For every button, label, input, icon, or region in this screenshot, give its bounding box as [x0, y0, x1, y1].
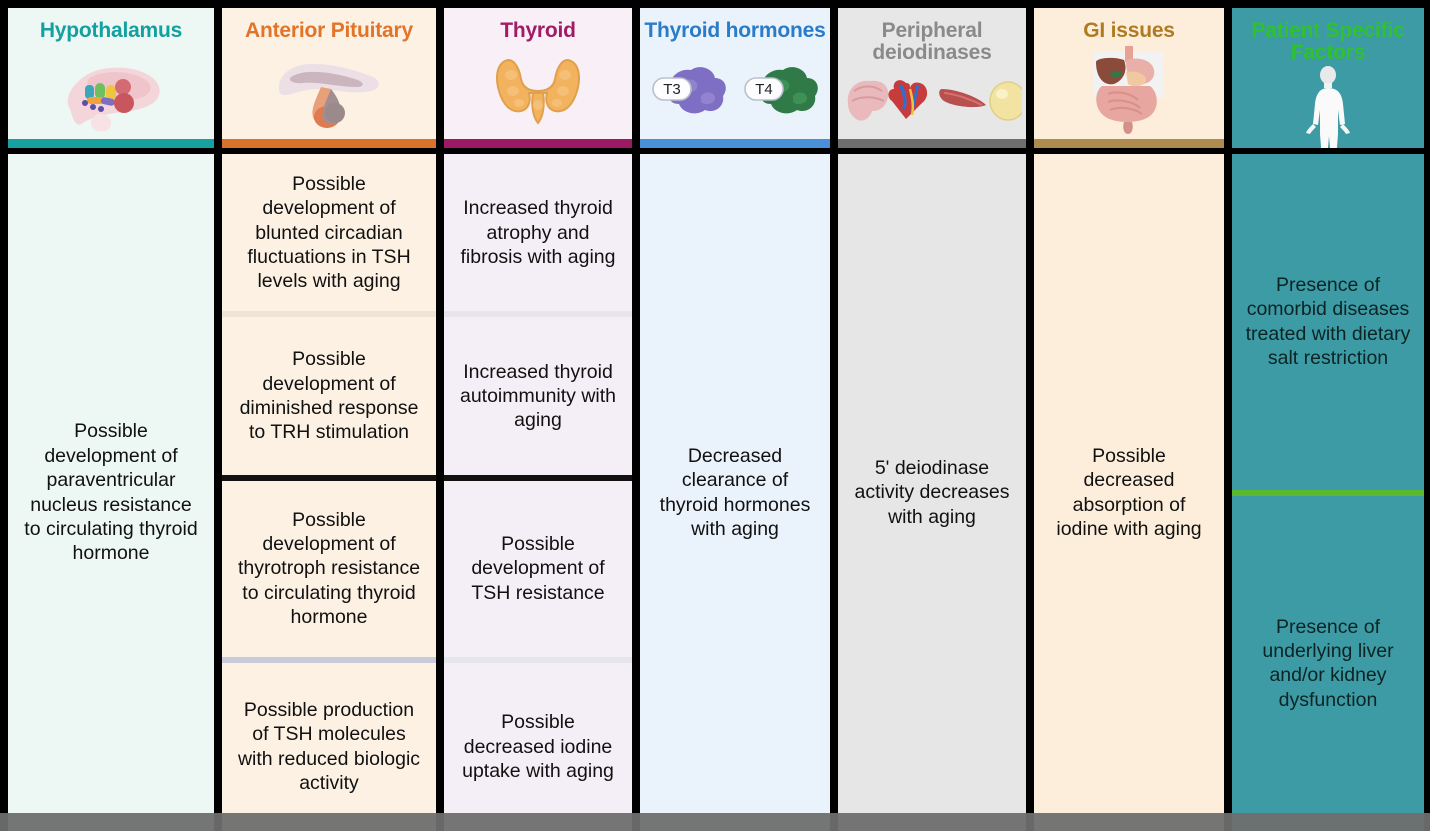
column-thyroid-hormones[interactable]: Thyroid hormones T3 T4Decreased clearanc… [636, 0, 834, 831]
header-rule-anterior-pituitary [222, 139, 436, 148]
cell-anterior-pituitary-4[interactable]: Possible production of TSH molecules wit… [222, 663, 436, 831]
column-header-label-hypothalamus: Hypothalamus [40, 8, 182, 42]
column-body-thyroid-hormones: Decreased clearance of thyroid hormones … [640, 154, 830, 831]
cell-thyroid-4[interactable]: Possible decreased iodine uptake with ag… [444, 663, 632, 831]
column-art-peripheral-deiodinases [838, 64, 1026, 139]
column-header-label-thyroid: Thyroid [500, 8, 576, 42]
cell-thyroid-hormones-1[interactable]: Decreased clearance of thyroid hormones … [640, 154, 830, 831]
header-rule-thyroid-hormones [640, 139, 830, 148]
cell-thyroid-1[interactable]: Increased thyroid atrophy and fibrosis w… [444, 154, 632, 311]
column-header-label-peripheral-deiodinases: Peripheral deiodinases [838, 8, 1026, 64]
header-rule-hypothalamus [8, 139, 214, 148]
t3-t4-icon: T3 T4 [645, 56, 825, 126]
organs-icon [842, 69, 1022, 135]
column-header-thyroid-hormones: Thyroid hormones T3 T4 [640, 8, 830, 148]
bottom-shadow [0, 813, 1430, 831]
column-body-peripheral-deiodinases: 5' deiodinase activity decreases with ag… [838, 154, 1026, 831]
column-header-label-thyroid-hormones: Thyroid hormones [644, 8, 825, 42]
column-art-thyroid-hormones: T3 T4 [640, 42, 830, 139]
column-header-label-patient-specific-factors: Patient Specific Factors [1232, 8, 1424, 64]
cell-anterior-pituitary-2[interactable]: Possible development of diminished respo… [222, 317, 436, 474]
column-header-gi-issues: GI issues [1034, 8, 1224, 148]
cell-patient-specific-factors-2[interactable]: Presence of underlying liver and/or kidn… [1232, 496, 1424, 831]
column-header-thyroid: Thyroid [444, 8, 632, 148]
cell-thyroid-2[interactable]: Increased thyroid autoimmunity with agin… [444, 317, 632, 474]
cell-anterior-pituitary-1[interactable]: Possible development of blunted circadia… [222, 154, 436, 311]
column-anterior-pituitary[interactable]: Anterior Pituitary Possible development … [218, 0, 440, 831]
cell-anterior-pituitary-3[interactable]: Possible development of thyrotroph resis… [222, 481, 436, 657]
column-header-hypothalamus: Hypothalamus [8, 8, 214, 148]
diagram-board: Hypothalamus Possible development of par… [0, 0, 1430, 831]
column-header-label-anterior-pituitary: Anterior Pituitary [245, 8, 413, 42]
hypothalamus-icon [51, 51, 171, 131]
cell-peripheral-deiodinases-1[interactable]: 5' deiodinase activity decreases with ag… [838, 154, 1026, 831]
column-header-peripheral-deiodinases: Peripheral deiodinases [838, 8, 1026, 148]
column-art-anterior-pituitary [222, 42, 436, 139]
thyroid-icon [483, 51, 593, 131]
column-body-gi-issues: Possible decreased absorption of iodine … [1034, 154, 1224, 831]
header-rule-peripheral-deiodinases [838, 139, 1026, 148]
column-thyroid[interactable]: Thyroid Increased thyroid atrophy and fi… [440, 0, 636, 831]
column-art-thyroid [444, 42, 632, 139]
cell-thyroid-3[interactable]: Possible development of TSH resistance [444, 481, 632, 657]
gi-tract-icon [1084, 46, 1174, 136]
cell-gi-issues-1[interactable]: Possible decreased absorption of iodine … [1034, 154, 1224, 831]
header-rule-gi-issues [1034, 139, 1224, 148]
cell-patient-specific-factors-1[interactable]: Presence of comorbid diseases treated wi… [1232, 154, 1424, 490]
column-art-patient-specific-factors [1232, 64, 1424, 148]
svg-text:T4: T4 [755, 81, 773, 98]
header-rule-thyroid [444, 139, 632, 148]
column-header-label-gi-issues: GI issues [1083, 8, 1175, 42]
pituitary-icon [269, 51, 389, 131]
column-gi-issues[interactable]: GI issues Possible decreased absorption … [1030, 0, 1228, 831]
column-patient-specific-factors[interactable]: Patient Specific Factors Presence of com… [1228, 0, 1430, 831]
column-body-hypothalamus: Possible development of paraventricular … [8, 154, 214, 831]
column-hypothalamus[interactable]: Hypothalamus Possible development of par… [0, 0, 218, 831]
cell-hypothalamus-1[interactable]: Possible development of paraventricular … [8, 154, 214, 831]
column-header-patient-specific-factors: Patient Specific Factors [1232, 8, 1424, 148]
human-body-icon [1298, 64, 1358, 148]
column-body-anterior-pituitary: Possible development of blunted circadia… [222, 154, 436, 831]
column-peripheral-deiodinases[interactable]: Peripheral deiodinases 5' deiodinase act… [834, 0, 1030, 831]
column-body-thyroid: Increased thyroid atrophy and fibrosis w… [444, 154, 632, 831]
column-art-gi-issues [1034, 42, 1224, 139]
column-body-patient-specific-factors: Presence of comorbid diseases treated wi… [1232, 154, 1424, 831]
column-art-hypothalamus [8, 42, 214, 139]
column-header-anterior-pituitary: Anterior Pituitary [222, 8, 436, 148]
svg-text:T3: T3 [663, 81, 681, 98]
